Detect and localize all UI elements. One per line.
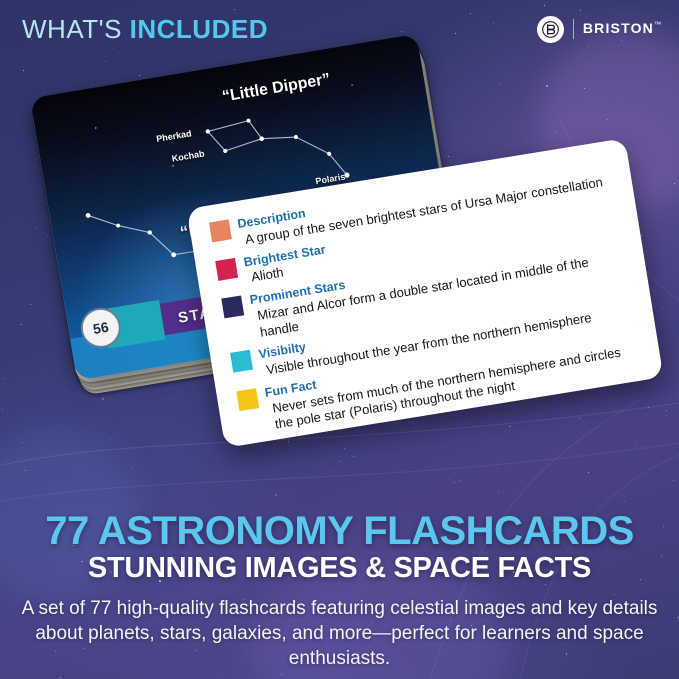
background-star <box>2 409 3 410</box>
background-star <box>636 446 637 447</box>
background-star <box>673 480 674 481</box>
field-color-chip <box>209 219 232 242</box>
marketing-body-text: A set of 77 high-quality flashcards feat… <box>20 596 660 671</box>
background-star <box>663 307 664 308</box>
background-star <box>579 418 580 419</box>
background-star <box>131 467 132 468</box>
background-star <box>588 472 589 473</box>
background-star <box>500 84 501 85</box>
background-star <box>648 407 649 408</box>
background-star <box>641 235 642 236</box>
eyebrow-light-text: WHAT'S <box>22 14 130 44</box>
marketing-subheadline: STUNNING IMAGES & SPACE FACTS <box>14 553 665 583</box>
background-star <box>448 156 449 157</box>
background-star <box>339 461 340 462</box>
field-color-chip <box>221 295 244 318</box>
field-color-chip <box>236 388 259 411</box>
background-star <box>555 131 556 132</box>
brand-lockup: BRISTON™ <box>537 16 661 43</box>
background-star <box>449 478 450 479</box>
background-star <box>288 441 289 442</box>
eyebrow-heading: WHAT'S INCLUDED <box>22 14 268 45</box>
background-star <box>21 324 22 325</box>
background-star <box>546 85 548 87</box>
background-star <box>139 75 140 76</box>
promo-image-root: WHAT'S INCLUDED BRISTON™ <box>0 0 679 679</box>
background-star <box>460 480 461 481</box>
field-color-chip <box>215 257 238 280</box>
brand-name-text: BRISTON™ <box>583 20 661 38</box>
background-star <box>674 183 675 184</box>
marketing-headline: 77 ASTRONOMY FLASHCARDS <box>14 511 665 551</box>
background-star <box>66 441 67 442</box>
background-star <box>47 235 48 236</box>
background-star <box>105 61 106 62</box>
background-star <box>498 492 499 493</box>
briston-logo-icon <box>537 16 564 43</box>
brand-divider <box>573 19 574 39</box>
background-star <box>275 494 277 496</box>
background-star <box>60 677 61 678</box>
background-star <box>509 426 511 428</box>
trademark-symbol: ™ <box>654 22 661 29</box>
background-star <box>110 438 111 439</box>
background-star <box>607 119 608 120</box>
background-star <box>30 304 31 305</box>
field-color-chip <box>230 350 253 373</box>
background-star <box>639 125 640 126</box>
background-star <box>666 410 667 411</box>
background-star <box>281 674 282 675</box>
background-star <box>624 501 625 502</box>
background-star <box>584 88 585 89</box>
background-star <box>22 442 23 443</box>
background-star <box>677 395 678 396</box>
background-star <box>102 398 104 400</box>
background-star <box>25 470 26 471</box>
background-star <box>23 70 24 71</box>
eyebrow-bold-text: INCLUDED <box>130 14 268 44</box>
background-star <box>36 227 37 228</box>
background-star <box>353 456 354 457</box>
background-star <box>344 448 345 449</box>
marketing-copy-block: 77 ASTRONOMY FLASHCARDS STUNNING IMAGES … <box>0 511 679 671</box>
header-bar: WHAT'S INCLUDED BRISTON™ <box>0 0 679 58</box>
background-star <box>497 467 498 468</box>
background-star <box>454 482 455 483</box>
background-star <box>3 378 4 379</box>
